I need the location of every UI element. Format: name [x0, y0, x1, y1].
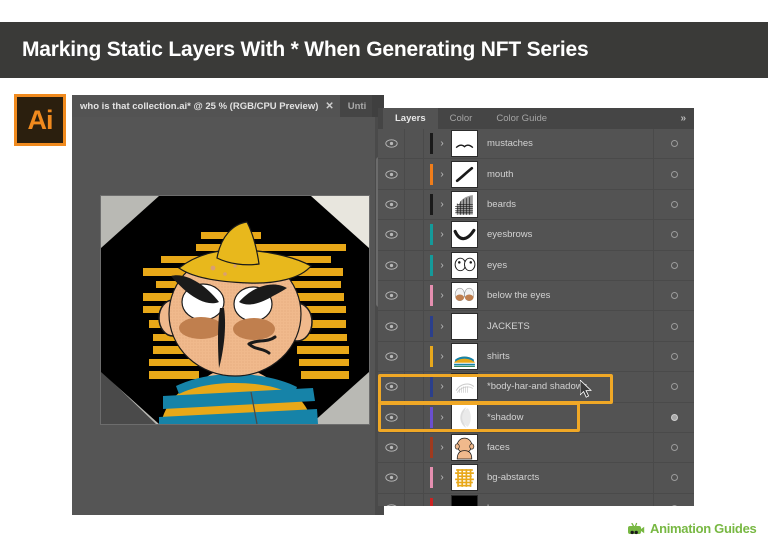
- layer-row[interactable]: ›faces: [378, 433, 694, 463]
- layer-target-cell[interactable]: [653, 311, 694, 340]
- lock-toggle-cell[interactable]: [405, 251, 424, 280]
- layer-thumbnail: [451, 161, 478, 188]
- eye-visibility-icon[interactable]: [378, 494, 405, 506]
- layer-name-label: below the eyes: [478, 290, 653, 301]
- layer-target-cell[interactable]: [653, 251, 694, 280]
- layer-row[interactable]: ›beards: [378, 190, 694, 220]
- layer-target-cell[interactable]: [653, 190, 694, 219]
- layer-target-cell[interactable]: [653, 403, 694, 432]
- target-indicator-dot[interactable]: [671, 444, 678, 451]
- lock-toggle-cell[interactable]: [405, 403, 424, 432]
- chevron-right-icon[interactable]: ›: [433, 321, 451, 332]
- chevron-right-icon[interactable]: ›: [433, 290, 451, 301]
- layer-target-cell[interactable]: [653, 220, 694, 249]
- chevron-right-icon[interactable]: ›: [433, 229, 451, 240]
- layer-name-label: mustaches: [478, 138, 653, 149]
- nft-character-artwork: [101, 196, 369, 424]
- layer-target-cell[interactable]: [653, 129, 694, 158]
- layer-thumbnail: [451, 373, 478, 400]
- chevron-right-icon[interactable]: ›: [433, 412, 451, 423]
- animation-guides-robot-icon: [628, 522, 645, 536]
- layer-name-label: eyes: [478, 260, 653, 271]
- layer-row[interactable]: ›bgs: [378, 494, 694, 506]
- layer-name-label: JACKETS: [478, 321, 653, 332]
- layer-name-label: eyesbrows: [478, 229, 653, 240]
- app-icon-label: Ai: [28, 107, 53, 134]
- target-indicator-dot[interactable]: [671, 505, 678, 506]
- layer-row[interactable]: ›JACKETS: [378, 311, 694, 341]
- layer-list: ›mustaches›mouth›beards›eyesbrows›eyes›b…: [378, 129, 694, 506]
- lock-toggle-cell[interactable]: [405, 372, 424, 401]
- eye-visibility-icon[interactable]: [378, 251, 405, 280]
- layer-row[interactable]: ›*body-har-and shadows: [378, 372, 694, 402]
- lock-toggle-cell[interactable]: [405, 342, 424, 371]
- eye-visibility-icon[interactable]: [378, 159, 405, 188]
- target-indicator-dot[interactable]: [671, 262, 678, 269]
- illustrator-document-window: who is that collection.ai* @ 25 % (RGB/C…: [72, 95, 384, 515]
- chevron-right-icon[interactable]: ›: [433, 472, 451, 483]
- layer-target-cell[interactable]: [653, 463, 694, 492]
- chevron-right-icon[interactable]: ›: [433, 138, 451, 149]
- layer-row[interactable]: ›below the eyes: [378, 281, 694, 311]
- layer-name-label: bg-abstarcts: [478, 472, 653, 483]
- eye-visibility-icon[interactable]: [378, 433, 405, 462]
- layer-target-cell[interactable]: [653, 372, 694, 401]
- eye-visibility-icon[interactable]: [378, 372, 405, 401]
- layer-name-label: beards: [478, 199, 653, 210]
- document-tab-untitled[interactable]: Unti: [340, 95, 372, 117]
- layer-target-cell[interactable]: [653, 494, 694, 506]
- layer-row[interactable]: ›eyes: [378, 251, 694, 281]
- target-indicator-dot[interactable]: [671, 383, 678, 390]
- layer-thumbnail: [451, 343, 478, 370]
- layer-thumbnail: [451, 313, 478, 340]
- eye-visibility-icon[interactable]: [378, 463, 405, 492]
- eye-visibility-icon[interactable]: [378, 281, 405, 310]
- footer-logo-text: Animation Guides: [650, 521, 756, 536]
- layer-thumbnail: [451, 434, 478, 461]
- layer-name-label: shirts: [478, 351, 653, 362]
- layer-target-cell[interactable]: [653, 342, 694, 371]
- target-indicator-dot[interactable]: [671, 323, 678, 330]
- target-indicator-dot[interactable]: [671, 292, 678, 299]
- canvas-area[interactable]: [72, 117, 384, 515]
- layer-target-cell[interactable]: [653, 433, 694, 462]
- layer-row[interactable]: ›eyesbrows: [378, 220, 694, 250]
- target-indicator-dot[interactable]: [671, 171, 678, 178]
- tab-color-label: Color: [450, 113, 473, 124]
- eye-visibility-icon[interactable]: [378, 220, 405, 249]
- layer-name-label: mouth: [478, 169, 653, 180]
- close-icon[interactable]: ✕: [325, 101, 333, 112]
- layer-thumbnail: [451, 130, 478, 157]
- lock-toggle-cell[interactable]: [405, 463, 424, 492]
- layer-target-cell[interactable]: [653, 281, 694, 310]
- lock-toggle-cell[interactable]: [405, 311, 424, 340]
- tab-color[interactable]: Color: [438, 108, 485, 129]
- tab-layers[interactable]: Layers: [383, 108, 438, 129]
- layer-name-label: *body-har-and shadows: [478, 381, 653, 392]
- lock-toggle-cell[interactable]: [405, 129, 424, 158]
- target-indicator-dot[interactable]: [671, 414, 678, 421]
- lock-toggle-cell[interactable]: [405, 494, 424, 506]
- chevron-right-icon[interactable]: ›: [433, 351, 451, 362]
- layer-name-label: *shadow: [478, 412, 653, 423]
- layer-thumbnail: [451, 221, 478, 248]
- lock-toggle-cell[interactable]: [405, 433, 424, 462]
- panel-menu-icon[interactable]: »: [680, 108, 686, 129]
- layer-thumbnail: [451, 404, 478, 431]
- artwork-container: [101, 196, 369, 424]
- panel-tab-bar: Layers Color Color Guide »: [378, 108, 694, 129]
- layer-thumbnail: [451, 464, 478, 491]
- target-indicator-dot[interactable]: [671, 474, 678, 481]
- chevron-right-icon[interactable]: ›: [433, 260, 451, 271]
- layer-name-label: faces: [478, 442, 653, 453]
- layer-row[interactable]: ›mustaches: [378, 129, 694, 159]
- document-tab-label-2: Unti: [348, 101, 366, 112]
- eye-visibility-icon[interactable]: [378, 129, 405, 158]
- chevron-right-icon[interactable]: ›: [433, 169, 451, 180]
- layer-thumbnail: [451, 252, 478, 279]
- document-tab-active[interactable]: who is that collection.ai* @ 25 % (RGB/C…: [72, 95, 340, 117]
- lock-toggle-cell[interactable]: [405, 220, 424, 249]
- layers-panel: Layers Color Color Guide » ›mustaches›mo…: [378, 108, 694, 506]
- tab-color-guide[interactable]: Color Guide: [484, 108, 559, 129]
- layer-row[interactable]: ›shirts: [378, 342, 694, 372]
- layer-name-label: bgs: [478, 503, 653, 506]
- layer-row[interactable]: ›*shadow: [378, 403, 694, 433]
- layer-thumbnail: [451, 495, 478, 506]
- document-tab-bar: who is that collection.ai* @ 25 % (RGB/C…: [72, 95, 384, 117]
- layer-row[interactable]: ›mouth: [378, 159, 694, 189]
- lock-toggle-cell[interactable]: [405, 190, 424, 219]
- lock-toggle-cell[interactable]: [405, 159, 424, 188]
- footer-logo: Animation Guides: [628, 521, 756, 536]
- eye-visibility-icon[interactable]: [378, 342, 405, 371]
- adobe-illustrator-icon: Ai: [14, 94, 66, 146]
- chevron-right-icon[interactable]: ›: [433, 199, 451, 210]
- target-indicator-dot[interactable]: [671, 201, 678, 208]
- layer-thumbnail: [451, 191, 478, 218]
- eye-visibility-icon[interactable]: [378, 403, 405, 432]
- document-tab-label: who is that collection.ai* @ 25 % (RGB/C…: [80, 101, 318, 112]
- title-banner: Marking Static Layers With * When Genera…: [0, 22, 768, 78]
- eye-visibility-icon[interactable]: [378, 190, 405, 219]
- chevron-right-icon[interactable]: ›: [433, 503, 451, 506]
- layer-thumbnail: [451, 282, 478, 309]
- artboard[interactable]: [100, 195, 370, 425]
- target-indicator-dot[interactable]: [671, 353, 678, 360]
- chevron-right-icon[interactable]: ›: [433, 381, 451, 392]
- chevron-right-icon[interactable]: ›: [433, 442, 451, 453]
- target-indicator-dot[interactable]: [671, 231, 678, 238]
- layer-row[interactable]: ›bg-abstarcts: [378, 463, 694, 493]
- tab-layers-label: Layers: [395, 113, 426, 124]
- tab-color-guide-label: Color Guide: [496, 113, 547, 124]
- layer-target-cell[interactable]: [653, 159, 694, 188]
- target-indicator-dot[interactable]: [671, 140, 678, 147]
- page-title: Marking Static Layers With * When Genera…: [0, 38, 588, 62]
- eye-visibility-icon[interactable]: [378, 311, 405, 340]
- lock-toggle-cell[interactable]: [405, 281, 424, 310]
